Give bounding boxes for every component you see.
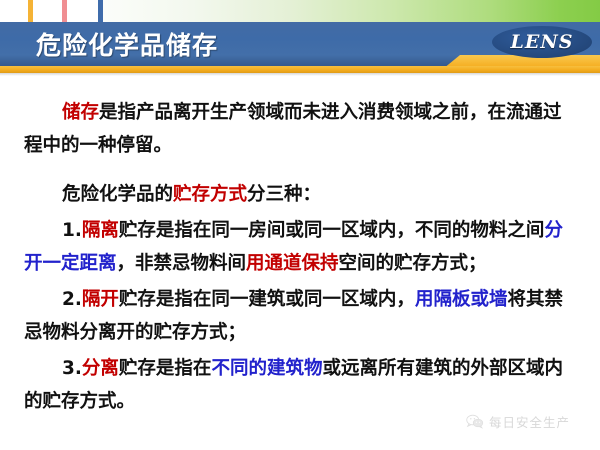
text-run-black: 1.: [62, 220, 82, 241]
text-run-black: 贮存是指在同一建筑或同一区域内，: [119, 289, 415, 310]
watermark-text: 每日安全生产: [489, 412, 570, 431]
text-run-blue: 用隔板或墙: [415, 289, 508, 310]
text-run-black: ，非禁忌物料间: [117, 253, 247, 274]
decor-tick-orange: [28, 0, 33, 22]
watermark: 每日安全生产: [466, 412, 570, 431]
text-run-red: 贮存方式: [173, 184, 247, 205]
lens-logo-badge: LENS: [492, 26, 592, 58]
top-decor-strip: [0, 0, 600, 22]
paragraph-item-3: 3.分离贮存是指在不同的建筑物或远离所有建筑的外部区域内的贮存方式。: [0, 352, 600, 418]
decor-tick-pink: [62, 0, 67, 22]
text-run-black: 贮存是指在: [119, 358, 212, 379]
text-run-red: 用通道保持: [246, 253, 339, 274]
text-run-black: 空间的贮存方式；: [339, 253, 487, 274]
decor-tick-blue: [98, 0, 103, 22]
text-run-black: 危险化学品的: [62, 184, 173, 205]
text-run-red: 隔开: [82, 289, 119, 310]
lens-logo-text: LENS: [492, 26, 592, 58]
paragraph-item-2: 2.隔开贮存是指在同一建筑或同一区域内，用隔板或墙将其禁忌物料分离开的贮存方式；: [0, 283, 600, 349]
text-run-black: 2.: [62, 289, 82, 310]
slide-canvas: 危险化学品储存 LENS 储存是指产品离开生产领域而未进入消费领域之前，在流通过…: [0, 0, 600, 450]
text-run-red: 隔离: [82, 220, 119, 241]
text-run-black: 是指产品离开生产领域而未进入消费领域之前，在流通过程中的一种停留。: [24, 102, 562, 156]
text-run-red: 储存: [62, 102, 99, 123]
text-run-black: 分三种：: [247, 184, 321, 205]
wechat-icon: [466, 414, 484, 429]
paragraph-item-1: 1.隔离贮存是指在同一房间或同一区域内，不同的物料之间分开一定距离，非禁忌物料间…: [0, 214, 600, 280]
paragraph-definition: 储存是指产品离开生产领域而未进入消费领域之前，在流通过程中的一种停留。: [0, 96, 600, 162]
header-drop-shadow: [0, 73, 600, 76]
orange-divider-rule: [0, 66, 600, 73]
text-run-blue: 不同的建筑物: [211, 358, 322, 379]
paragraph-intro: 危险化学品的贮存方式分三种：: [0, 178, 600, 211]
green-gradient-band: [103, 0, 600, 22]
text-run-black: 3.: [62, 358, 82, 379]
slide-title: 危险化学品储存: [36, 26, 218, 62]
slide-body: 储存是指产品离开生产领域而未进入消费领域之前，在流通过程中的一种停留。 危险化学…: [0, 84, 600, 450]
text-run-black: 贮存是指在同一房间或同一区域内，不同的物料之间: [119, 220, 545, 241]
text-run-red: 分离: [82, 358, 119, 379]
